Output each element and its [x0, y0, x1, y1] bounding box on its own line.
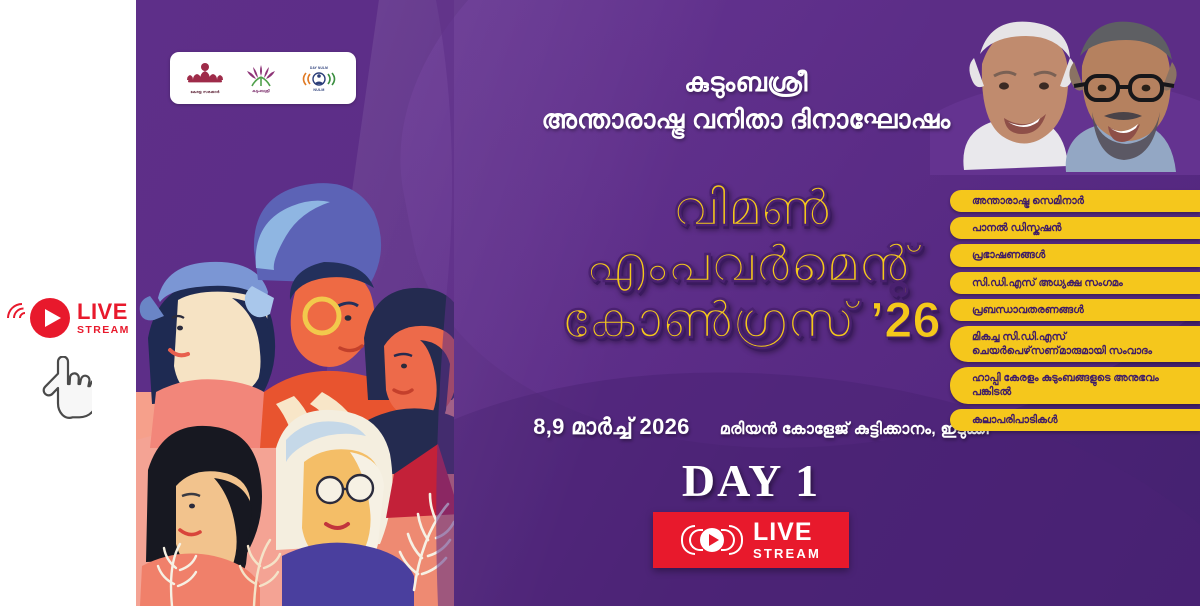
- agenda-item[interactable]: ഹാപ്പി കേരളം കുടുംബങ്ങളുടെ അനുഭവം പങ്കിട…: [950, 367, 1200, 403]
- agenda-item[interactable]: കലാപരിപാടികൾ: [950, 409, 1200, 431]
- agenda-item[interactable]: അന്താരാഷ്ട്ര സെമിനാർ: [950, 190, 1200, 212]
- poster-header: കുടുംബശ്രീ അന്താരാഷ്ട്ര വനിതാ ദിനാഘോഷം: [436, 66, 1056, 136]
- agenda-item[interactable]: പാനൽ ഡിസ്കഷൻ: [950, 217, 1200, 239]
- event-poster: കേരള സരക്കാർ കുടുംബശ്രീ: [136, 0, 1200, 606]
- live-stream-badge[interactable]: LIVE STREAM: [653, 512, 849, 568]
- agenda-item-label: പ്രബന്ധാവതരണങ്ങൾ: [972, 303, 1084, 317]
- live-label: LIVE: [77, 301, 130, 323]
- agenda-item[interactable]: പ്രഭാഷണങ്ങൾ: [950, 244, 1200, 266]
- left-sidebar-rail: LIVE STREAM: [0, 0, 136, 606]
- kudumbashree-logo-icon: കുടുംബശ്രീ: [244, 63, 278, 93]
- event-subtitle: അന്താരാഷ്ട്ര വനിതാ ദിനാഘോഷം: [436, 103, 1056, 136]
- kudumbashree-caption: കുടുംബശ്രീ: [252, 89, 270, 93]
- agenda-item-label: സി.ഡി.എസ് അധ്യക്ഷ സംഗമം: [972, 276, 1123, 290]
- agenda-item-label: ഹാപ്പി കേരളം കുടുംബങ്ങളുടെ അനുഭവം പങ്കിട…: [972, 371, 1194, 399]
- broadcast-waves-icon: [6, 298, 32, 338]
- broadcast-play-icon: [681, 520, 743, 560]
- agenda-list: അന്താരാഷ്ട്ര സെമിനാർ പാനൽ ഡിസ്കഷൻ പ്രഭാഷ…: [950, 190, 1200, 436]
- kerala-government-caption: കേരള സരക്കാർ: [191, 90, 220, 94]
- badge-live-label: LIVE: [753, 520, 821, 545]
- agenda-item[interactable]: സി.ഡി.എസ് അധ്യക്ഷ സംഗമം: [950, 272, 1200, 294]
- play-button-icon[interactable]: [30, 298, 70, 338]
- agenda-item-label: അന്താരാഷ്ട്ര സെമിനാർ: [972, 194, 1084, 208]
- agenda-item[interactable]: പ്രബന്ധാവതരണങ്ങൾ: [950, 299, 1200, 321]
- live-stream-page: LIVE STREAM: [0, 0, 1200, 606]
- national-mission-caption: NULM: [313, 88, 324, 92]
- live-stream-logo-text: LIVE STREAM: [77, 301, 130, 336]
- organization-logos-strip: കേരള സരക്കാർ കുടുംബശ്രീ: [170, 52, 356, 104]
- agenda-item[interactable]: മികച്ച സി.ഡി.എസ് ചെയർപെഴ്‌സണ്‌മാരുമായി സ…: [950, 326, 1200, 362]
- agenda-item-label: പാനൽ ഡിസ്കഷൻ: [972, 221, 1062, 235]
- kerala-government-emblem-icon: കേരള സരക്കാർ: [186, 62, 224, 94]
- stream-label: STREAM: [77, 325, 130, 336]
- agenda-item-label: മികച്ച സി.ഡി.എസ് ചെയർപെഴ്‌സണ്‌മാരുമായി സ…: [972, 330, 1194, 358]
- live-stream-logo[interactable]: LIVE STREAM: [6, 292, 132, 344]
- badge-stream-label: STREAM: [753, 547, 821, 560]
- event-venue: മരിയൻ കോളേജ് കുട്ടിക്കാനം, ഇടുക്കി: [720, 421, 989, 439]
- day-label: DAY 1: [441, 458, 1061, 504]
- event-date: 8,9 മാർച്ച് 2026: [533, 414, 690, 440]
- live-badge-text: LIVE STREAM: [753, 520, 821, 560]
- hand-pointer-cursor-icon: [36, 356, 92, 422]
- day-and-live-block: DAY 1 LIVE STREAM: [441, 458, 1061, 568]
- agenda-item-label: പ്രഭാഷണങ്ങൾ: [972, 248, 1045, 262]
- agenda-item-label: കലാപരിപാടികൾ: [972, 413, 1058, 427]
- national-mission-logo-icon: DAY NULM NULM: [298, 64, 340, 92]
- organization-name: കുടുംബശ്രീ: [436, 66, 1056, 99]
